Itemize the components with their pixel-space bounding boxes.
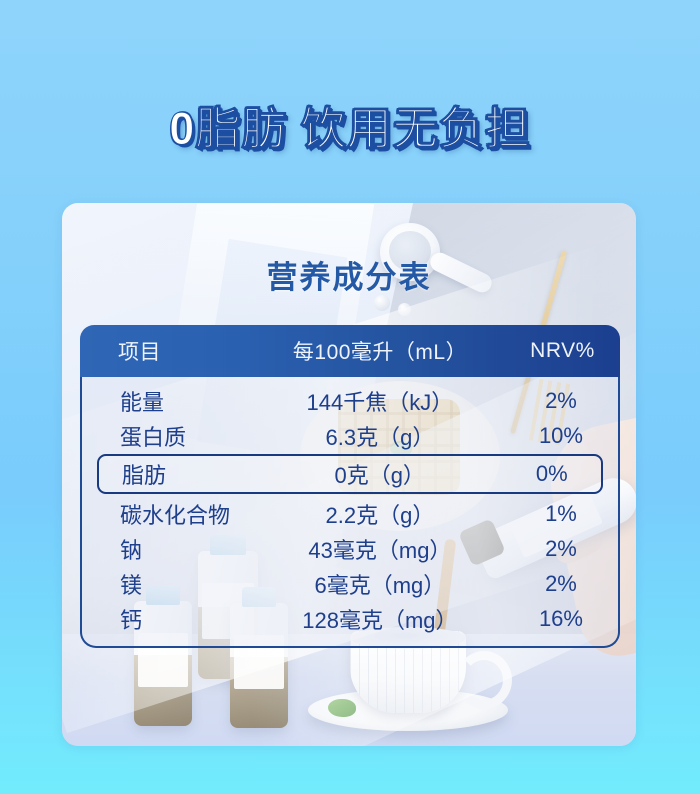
- column-header-nrv: NRV%: [505, 339, 620, 363]
- row-value: 6.3克（g）: [256, 420, 504, 452]
- row-nrv: 2%: [504, 388, 618, 414]
- row-nrv: 2%: [504, 571, 618, 597]
- herb-garnish-photo-2: [328, 699, 356, 717]
- droplet-photo-1: [374, 295, 390, 311]
- row-value: 144千焦（kJ）: [256, 385, 504, 417]
- product-detail-page: 0脂肪 饮用无负担: [0, 0, 700, 794]
- droplet-photo-2: [398, 303, 411, 316]
- row-item-label: 碳水化合物: [82, 498, 256, 530]
- row-value: 6毫克（mg）: [256, 568, 504, 600]
- row-nrv: 0%: [503, 461, 601, 487]
- table-row: 镁 6毫克（mg） 2%: [82, 566, 618, 601]
- table-body: 能量 144千焦（kJ） 2% 蛋白质 6.3克（g） 10% 脂肪 0克（g）…: [80, 377, 620, 648]
- saucer-photo: [308, 689, 508, 731]
- row-item-label: 蛋白质: [82, 420, 256, 452]
- column-header-item: 项目: [80, 336, 255, 366]
- row-item-label: 能量: [82, 385, 256, 417]
- row-value: 128毫克（mg）: [256, 603, 504, 635]
- table-row: 蛋白质 6.3克（g） 10%: [82, 418, 618, 453]
- table-row: 碳水化合物 2.2克（g） 1%: [82, 496, 618, 531]
- row-value: 0克（g）: [257, 458, 503, 490]
- column-header-value: 每100毫升（mL）: [255, 336, 505, 366]
- row-item-label: 镁: [82, 568, 256, 600]
- table-row-highlighted-fat: 脂肪 0克（g） 0%: [97, 454, 603, 494]
- row-item-label: 钠: [82, 533, 256, 565]
- row-nrv: 10%: [504, 423, 618, 449]
- table-row: 能量 144千焦（kJ） 2%: [82, 383, 618, 418]
- row-nrv: 2%: [504, 536, 618, 562]
- row-value: 2.2克（g）: [256, 498, 504, 530]
- page-headline: 0脂肪 饮用无负担: [0, 92, 700, 157]
- table-row: 钠 43毫克（mg） 2%: [82, 531, 618, 566]
- row-nrv: 1%: [504, 501, 618, 527]
- row-value: 43毫克（mg）: [256, 533, 504, 565]
- table-header-row: 项目 每100毫升（mL） NRV%: [80, 325, 620, 377]
- row-item-label: 脂肪: [99, 458, 257, 490]
- page-title: 营养成分表: [62, 252, 636, 297]
- nutrition-facts-table: 项目 每100毫升（mL） NRV% 能量 144千焦（kJ） 2% 蛋白质 6…: [80, 325, 620, 648]
- cup-handle-photo: [456, 651, 512, 709]
- row-nrv: 16%: [504, 606, 618, 632]
- row-item-label: 钙: [82, 603, 256, 635]
- table-row: 钙 128毫克（mg） 16%: [82, 601, 618, 636]
